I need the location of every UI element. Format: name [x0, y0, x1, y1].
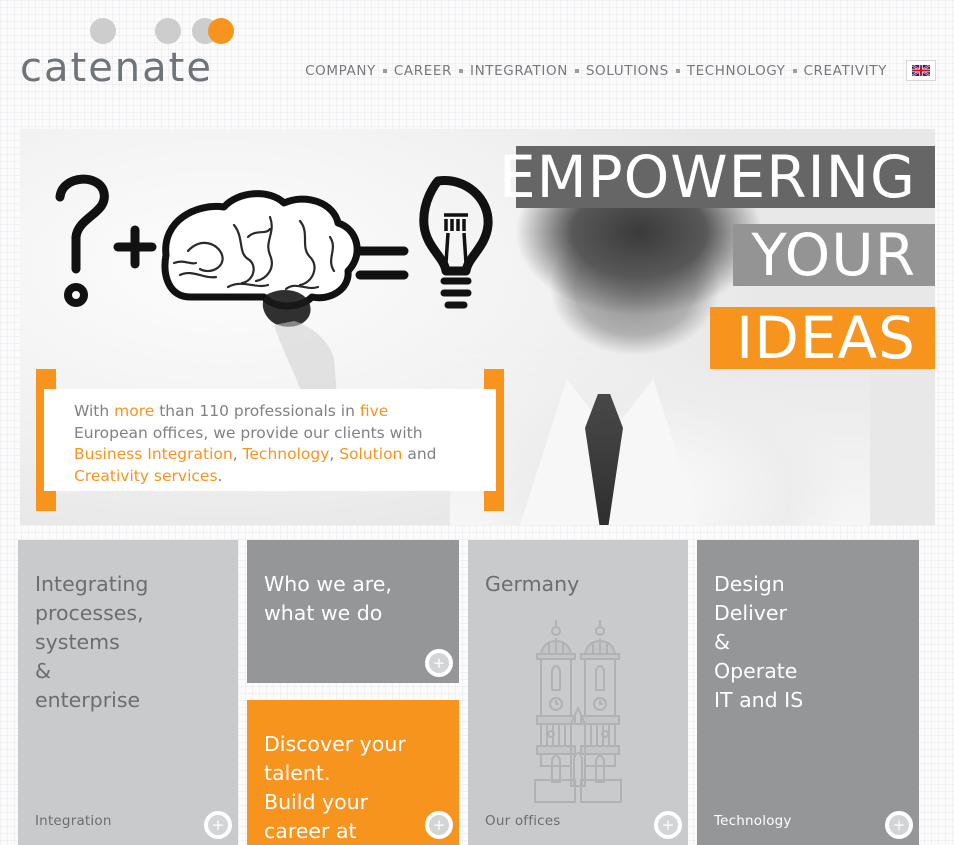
nav-item-technology[interactable]: TECHNOLOGY [680, 63, 793, 79]
nav-item-company[interactable]: COMPANY [298, 63, 383, 79]
site-header: catenate COMPANY CAREER INTEGRATION SOLU… [0, 0, 954, 110]
quote-plain-text: European offices, we provide our clients… [74, 424, 423, 442]
quote-plain-text: , [329, 445, 339, 463]
quote-accent-text: Solution [339, 445, 402, 463]
hero-quote-text: With more than 110 professionals in five… [74, 401, 466, 487]
quote-plain-text: With [74, 402, 114, 420]
quote-accent-text: more [114, 402, 154, 420]
language-switcher-button[interactable] [906, 60, 936, 81]
tile-technology-expand-button[interactable]: + [885, 811, 913, 839]
quote-plain-text: than 110 professionals in [154, 402, 360, 420]
tile-career-title: Discover your talent. Build your career … [264, 730, 433, 845]
logo[interactable]: catenate [20, 14, 250, 88]
tile-technology-title: Design Deliver & Operate IT and IS [714, 570, 893, 715]
bracket-left-notch [44, 389, 56, 491]
hero-band-empowering: EMPOWERING [516, 146, 935, 208]
tile-career-expand-button[interactable]: + [425, 811, 453, 839]
tile-career[interactable]: Discover your talent. Build your career … [247, 700, 459, 845]
tile-offices[interactable]: Germany [468, 540, 688, 845]
hero-banner[interactable]: EMPOWERING YOUR IDEAS With more than 110… [20, 129, 935, 525]
quote-accent-text: Business Integration [74, 445, 233, 463]
page-root: catenate COMPANY CAREER INTEGRATION SOLU… [0, 0, 954, 845]
bracket-right-notch [484, 389, 496, 491]
tile-column-4: Design Deliver & Operate IT and IS Techn… [697, 540, 919, 845]
hero-band-your: YOUR [733, 224, 935, 286]
tile-column-2: Who we are, what we do + Discover your t… [247, 540, 459, 845]
uk-flag-icon [912, 65, 930, 76]
tile-offices-label: Our offices [485, 813, 561, 829]
quote-plain-text: , [233, 445, 243, 463]
logo-dot-orange [208, 18, 234, 44]
hero-quote-panel: With more than 110 professionals in five… [36, 369, 504, 511]
tile-integration[interactable]: Integrating processes, systems & enterpr… [18, 540, 238, 845]
logo-dots [20, 14, 250, 46]
tile-who-we-are[interactable]: Who we are, what we do + [247, 540, 459, 683]
quote-plain-text: and [402, 445, 436, 463]
nav-item-integration[interactable]: INTEGRATION [463, 63, 575, 79]
tile-who-we-are-expand-button[interactable]: + [425, 649, 453, 677]
tile-technology[interactable]: Design Deliver & Operate IT and IS Techn… [697, 540, 919, 845]
logo-dot-gray-2 [155, 18, 181, 44]
tile-integration-label: Integration [35, 813, 112, 829]
hero-band-ideas: IDEAS [710, 307, 935, 369]
quote-accent-text: Creativity services [74, 467, 218, 485]
main-navigation: COMPANY CAREER INTEGRATION SOLUTIONS TEC… [298, 60, 936, 81]
nav-item-career[interactable]: CAREER [387, 63, 459, 79]
tile-integration-expand-button[interactable]: + [204, 811, 232, 839]
hero-quote-box: With more than 110 professionals in five… [56, 389, 484, 491]
tile-column-3: Germany [468, 540, 688, 845]
tile-column-1: Integrating processes, systems & enterpr… [18, 540, 238, 845]
frauenkirche-munich-icon [523, 608, 633, 808]
quote-accent-text: five [360, 402, 388, 420]
teaser-tile-grid: Integrating processes, systems & enterpr… [18, 540, 936, 845]
tile-offices-title: Germany [485, 570, 662, 599]
tile-integration-title: Integrating processes, systems & enterpr… [35, 570, 212, 715]
tile-technology-label: Technology [714, 813, 792, 829]
nav-item-solutions[interactable]: SOLUTIONS [579, 63, 676, 79]
quote-plain-text: . [218, 467, 223, 485]
logo-wordmark: catenate [20, 48, 250, 88]
nav-item-creativity[interactable]: CREATIVITY [797, 63, 894, 79]
tile-who-we-are-title: Who we are, what we do [264, 570, 433, 628]
tile-offices-expand-button[interactable]: + [654, 811, 682, 839]
quote-accent-text: Technology [243, 445, 330, 463]
logo-dot-gray-1 [90, 18, 116, 44]
